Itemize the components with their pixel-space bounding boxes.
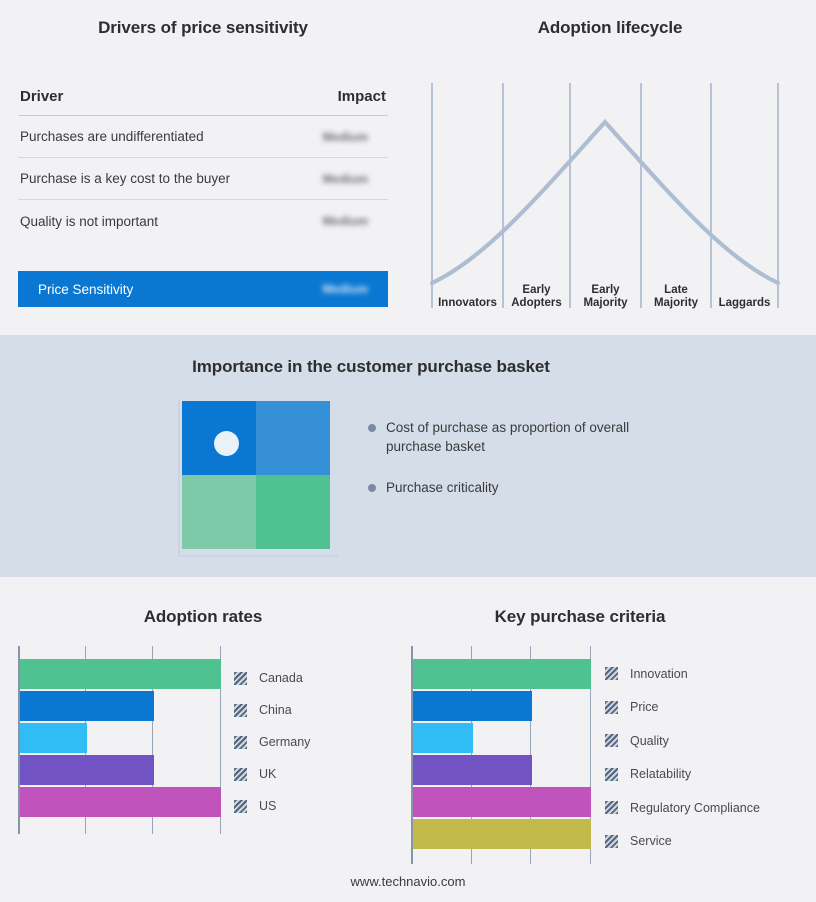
bar-us: [20, 787, 221, 817]
matrix-y-axis: [178, 399, 180, 555]
legend-swatch-icon: [234, 800, 247, 813]
bar-canada: [20, 659, 221, 689]
driver-label: Quality is not important: [20, 214, 158, 229]
table-row: Quality is not important Medium: [18, 200, 388, 242]
legend-swatch-icon: [605, 734, 618, 747]
lifecycle-segment-early-adopters: Early Adopters: [503, 284, 570, 310]
infographic-page: Drivers of price sensitivity Driver Impa…: [0, 0, 816, 902]
legend-label: Canada: [259, 671, 303, 685]
drivers-table-header: Driver Impact: [18, 88, 388, 116]
bar-china: [20, 691, 154, 721]
matrix-cell-bottom-right: [256, 475, 330, 549]
legend-swatch-icon: [605, 801, 618, 814]
list-item: Cost of purchase as proportion of overal…: [368, 418, 668, 456]
lifecycle-segment-innovators: Innovators: [432, 297, 503, 310]
driver-label: Purchases are undifferentiated: [20, 129, 204, 144]
purchase-basket-matrix: [182, 401, 330, 549]
bar-regulatory-compliance: [413, 787, 591, 817]
list-item: UK: [234, 758, 310, 790]
adoption-rates-legend: Canada China Germany UK US: [234, 662, 310, 822]
lifecycle-segment-early-majority: Early Majority: [570, 284, 641, 310]
driver-label: Purchase is a key cost to the buyer: [20, 171, 230, 186]
bar-innovation: [413, 659, 591, 689]
driver-label: Price Sensitivity: [38, 282, 133, 297]
legend-swatch-icon: [234, 768, 247, 781]
impact-value: Medium: [323, 130, 386, 144]
bar-relatability: [413, 755, 532, 785]
basket-legend-label: Purchase criticality: [386, 478, 499, 497]
bullet-icon: [368, 424, 376, 432]
legend-swatch-icon: [605, 768, 618, 781]
adoption-rates-panel-title: Adoption rates: [18, 607, 388, 627]
bar-uk: [20, 755, 154, 785]
legend-label: Innovation: [630, 667, 688, 681]
plot-area: [18, 646, 221, 834]
impact-value: Medium: [323, 282, 386, 296]
legend-label: Service: [630, 834, 672, 848]
matrix-x-axis: [178, 555, 338, 557]
list-item: Regulatory Compliance: [605, 791, 760, 825]
list-item: Price: [605, 691, 760, 725]
legend-label: China: [259, 703, 292, 717]
purchase-criteria-legend: Innovation Price Quality Relatability Re…: [605, 657, 760, 858]
lifecycle-curve-svg: [425, 80, 795, 310]
drivers-table: Driver Impact Purchases are undifferenti…: [18, 88, 388, 242]
legend-label: Price: [630, 700, 658, 714]
legend-swatch-icon: [605, 701, 618, 714]
legend-swatch-icon: [605, 667, 618, 680]
list-item: Germany: [234, 726, 310, 758]
legend-swatch-icon: [234, 672, 247, 685]
table-row: Purchase is a key cost to the buyer Medi…: [18, 158, 388, 200]
legend-label: Regulatory Compliance: [630, 801, 760, 815]
list-item: Service: [605, 825, 760, 859]
lifecycle-segment-late-majority: Late Majority: [641, 284, 711, 310]
list-item: Relatability: [605, 758, 760, 792]
legend-label: UK: [259, 767, 276, 781]
key-purchase-criteria-chart: [411, 646, 596, 864]
matrix-cell-top-left: [182, 401, 256, 475]
list-item: Purchase criticality: [368, 478, 668, 497]
legend-label: Quality: [630, 734, 669, 748]
legend-swatch-icon: [234, 704, 247, 717]
bar-price: [413, 691, 532, 721]
adoption-lifecycle-chart: Innovators Early Adopters Early Majority…: [425, 80, 795, 310]
basket-legend-label: Cost of purchase as proportion of overal…: [386, 418, 636, 456]
list-item: US: [234, 790, 310, 822]
impact-value: Medium: [323, 214, 386, 228]
matrix-cell-top-right: [256, 401, 330, 475]
adoption-rates-chart: [18, 646, 228, 834]
price-sensitivity-summary-row: Price Sensitivity Medium: [18, 271, 388, 307]
list-item: Innovation: [605, 657, 760, 691]
basket-panel-title: Importance in the customer purchase bask…: [0, 357, 742, 377]
matrix-cell-bottom-left: [182, 475, 256, 549]
purchase-criteria-panel-title: Key purchase criteria: [410, 607, 750, 627]
list-item: Quality: [605, 724, 760, 758]
column-header-driver: Driver: [20, 88, 63, 105]
legend-swatch-icon: [605, 835, 618, 848]
list-item: Canada: [234, 662, 310, 694]
bar-germany: [20, 723, 87, 753]
bar-service: [413, 819, 591, 849]
bullet-icon: [368, 484, 376, 492]
table-row: Purchases are undifferentiated Medium: [18, 116, 388, 158]
column-header-impact: Impact: [338, 88, 386, 105]
legend-label: Germany: [259, 735, 310, 749]
impact-value: Medium: [323, 172, 386, 186]
matrix-position-marker: [214, 431, 239, 456]
basket-legend: Cost of purchase as proportion of overal…: [368, 418, 668, 519]
legend-swatch-icon: [234, 736, 247, 749]
bar-quality: [413, 723, 473, 753]
drivers-panel-title: Drivers of price sensitivity: [18, 18, 388, 38]
footer-url: www.technavio.com: [0, 874, 816, 889]
lifecycle-segment-laggards: Laggards: [711, 297, 778, 310]
lifecycle-panel-title: Adoption lifecycle: [425, 18, 795, 38]
list-item: China: [234, 694, 310, 726]
legend-label: US: [259, 799, 276, 813]
plot-area: [411, 646, 591, 864]
legend-label: Relatability: [630, 767, 691, 781]
